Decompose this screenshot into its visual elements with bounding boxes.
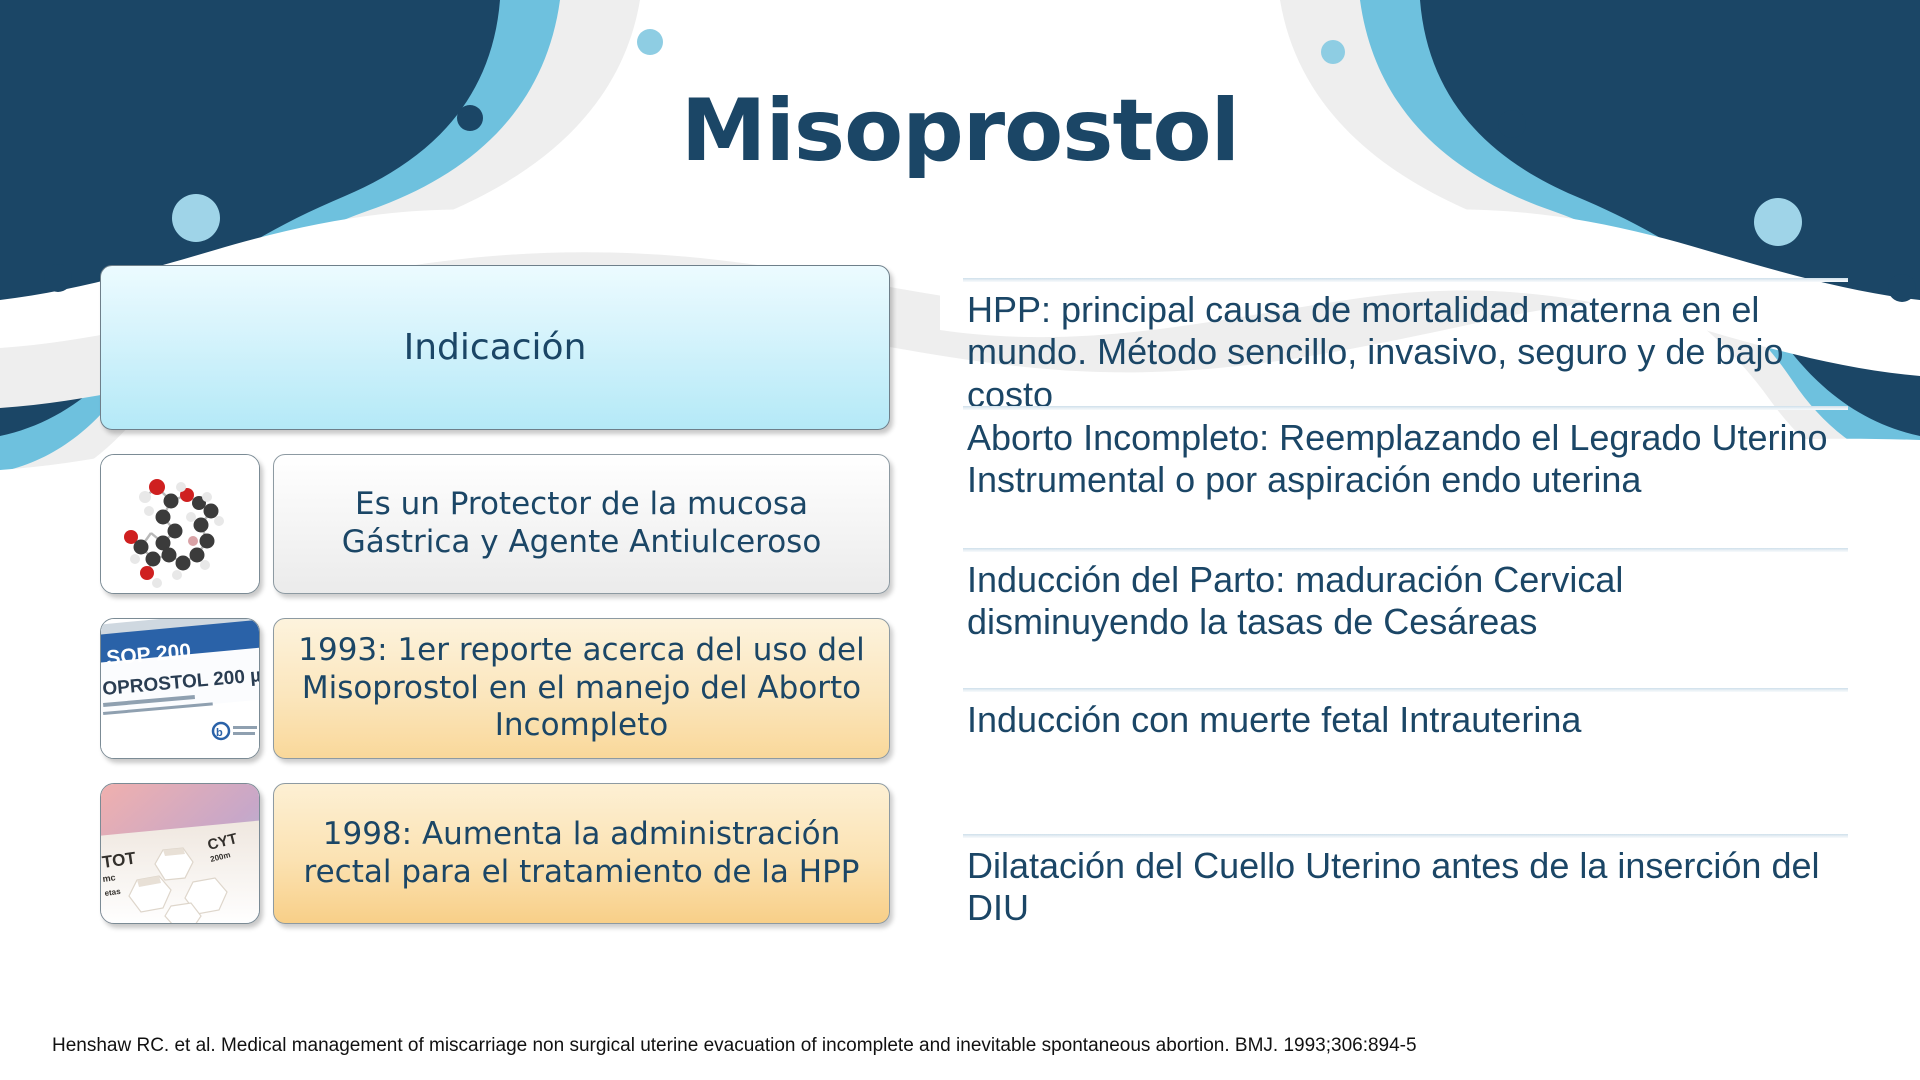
list-item-text: Es un Protector de la mucosa Gástrica y …: [273, 454, 890, 594]
list-item[interactable]: TOT mc etas CYT 200m 1998: Aument: [100, 783, 890, 924]
indication-header-label: Indicación: [404, 327, 587, 368]
list-item-text: HPP: principal causa de mortalidad mater…: [967, 289, 1844, 416]
dot-navy-right-edge: [1888, 274, 1916, 302]
page-title: Misoprostol: [0, 88, 1920, 174]
list-item[interactable]: HPP: principal causa de mortalidad mater…: [963, 278, 1848, 406]
dot-sky-right: [1754, 198, 1802, 246]
dot-sky-top-mid: [637, 29, 663, 55]
indication-header-chip[interactable]: Indicación: [100, 265, 890, 430]
dot-sky-left: [172, 194, 220, 242]
footer-citation: Henshaw RC. et al. Medical management of…: [52, 1035, 1852, 1057]
misoprostol-box-image: SOP 200 OPROSTOL 200 µg b: [100, 618, 260, 759]
misoprostol-tablets-image: TOT mc etas CYT 200m: [100, 783, 260, 924]
list-item-text: Aborto Incompleto: Reemplazando el Legra…: [967, 417, 1844, 502]
svg-text:mc: mc: [102, 872, 116, 884]
list-item-text: Inducción con muerte fetal Intrauterina: [967, 699, 1844, 741]
right-column: HPP: principal causa de mortalidad mater…: [963, 278, 1848, 954]
list-item-text: Dilatación del Cuello Uterino antes de l…: [967, 845, 1844, 930]
molecule-icon: [101, 455, 260, 594]
dot-navy-left-edge: [44, 264, 72, 292]
svg-text:b: b: [216, 727, 223, 739]
list-item[interactable]: Inducción del Parto: maduración Cervical…: [963, 548, 1848, 688]
dot-sky-top-right: [1321, 40, 1345, 64]
list-item[interactable]: SOP 200 OPROSTOL 200 µg b 1993: 1er repo…: [100, 618, 890, 759]
list-item[interactable]: Dilatación del Cuello Uterino antes de l…: [963, 834, 1848, 954]
list-item-text: 1993: 1er reporte acerca del uso del Mis…: [273, 618, 890, 759]
misoprostol-molecule-image: [100, 454, 260, 594]
list-item[interactable]: Inducción con muerte fetal Intrauterina: [963, 688, 1848, 834]
medicine-box-icon: SOP 200 OPROSTOL 200 µg b: [101, 619, 260, 759]
left-column: Indicación: [100, 265, 890, 924]
list-item[interactable]: Aborto Incompleto: Reemplazando el Legra…: [963, 406, 1848, 548]
list-item-text: 1998: Aumenta la administración rectal p…: [273, 783, 890, 924]
list-item[interactable]: Es un Protector de la mucosa Gástrica y …: [100, 454, 890, 594]
list-item-text: Inducción del Parto: maduración Cervical…: [967, 559, 1844, 644]
tablets-icon: TOT mc etas CYT 200m: [101, 784, 260, 924]
